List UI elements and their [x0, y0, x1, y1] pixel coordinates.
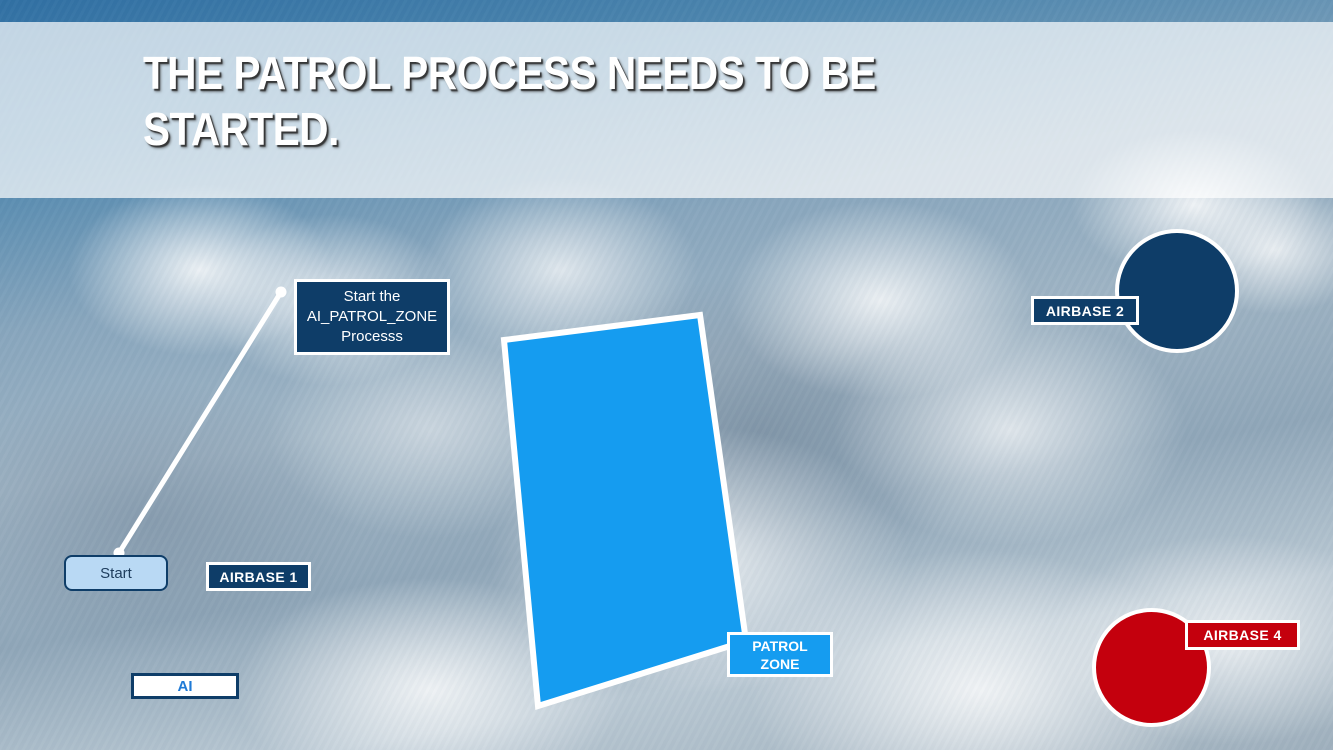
airbase-4-label[interactable]: AIRBASE 4: [1185, 620, 1300, 650]
airbase-2-label[interactable]: AIRBASE 2: [1031, 296, 1139, 325]
patrol-zone-shape[interactable]: [504, 315, 746, 706]
airbase-2-node[interactable]: [1115, 229, 1239, 353]
airbase-1-label[interactable]: AIRBASE 1: [206, 562, 311, 591]
start-button[interactable]: Start: [64, 555, 168, 591]
ai-sub-label[interactable]: AI: [131, 673, 239, 699]
patrol-zone-label[interactable]: PATROL ZONE: [727, 632, 833, 677]
slide-canvas: THE PATROL PROCESS NEEDS TO BE STARTED. …: [0, 0, 1333, 750]
callout-box-start-process[interactable]: Start the AI_PATROL_ZONE Processs: [294, 279, 450, 355]
